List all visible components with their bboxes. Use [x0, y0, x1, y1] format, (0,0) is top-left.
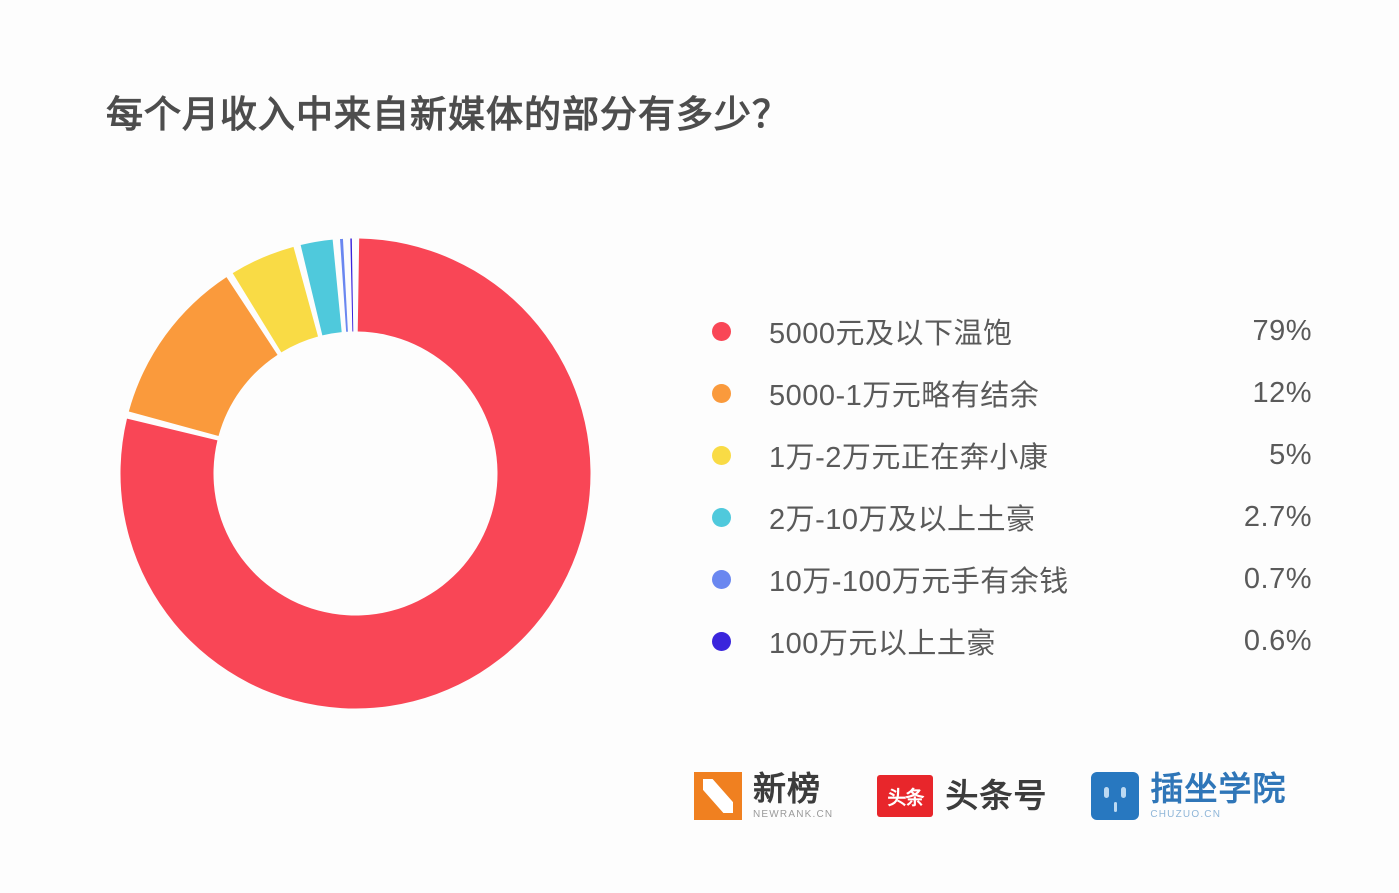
legend-value-5: 0.6% — [1192, 625, 1312, 658]
toutiao-badge-icon: 头条 — [877, 775, 933, 817]
legend-label-4: 10万-100万元手有余钱 — [769, 558, 1192, 600]
legend-value-3: 2.7% — [1192, 501, 1312, 534]
chuzuo-logo-text: 插坐学院 CHUZUO.CN — [1150, 772, 1286, 820]
newrank-logo-domain: NEWRANK.CN — [753, 809, 833, 820]
legend-item[interactable]: 1万-2万元正在奔小康 5% — [712, 424, 1312, 486]
toutiaohao-logo-text: 头条号 — [945, 779, 1047, 814]
legend-color-swatch-3 — [712, 508, 731, 527]
legend-color-swatch-1 — [712, 384, 731, 403]
legend-value-2: 5% — [1192, 439, 1312, 472]
donut-chart — [118, 236, 593, 711]
chuzuo-eye-right — [1121, 787, 1126, 798]
legend-color-swatch-0 — [712, 322, 731, 341]
chuzuo-mouth — [1114, 802, 1117, 812]
page-title: 每个月收入中来自新媒体的部分有多少？ — [106, 84, 790, 138]
toutiaohao-logo-name: 头条号 — [945, 779, 1047, 814]
footer-logos: 新榜 NEWRANK.CN 头条 头条号 插坐学院 CHUZUO.CN — [694, 772, 1286, 820]
legend-item[interactable]: 5000元及以下温饱 79% — [712, 300, 1312, 362]
chart-legend: 5000元及以下温饱 79% 5000-1万元略有结余 12% 1万-2万元正在… — [712, 300, 1312, 672]
chuzuo-eye-left — [1104, 787, 1109, 798]
legend-label-5: 100万元以上土豪 — [769, 620, 1192, 662]
legend-label-0: 5000元及以下温饱 — [769, 310, 1192, 352]
legend-value-1: 12% — [1192, 377, 1312, 410]
legend-value-4: 0.7% — [1192, 563, 1312, 596]
legend-item[interactable]: 100万元以上土豪 0.6% — [712, 610, 1312, 672]
legend-label-2: 1万-2万元正在奔小康 — [769, 434, 1192, 476]
logo-newrank: 新榜 NEWRANK.CN — [694, 772, 833, 820]
legend-color-swatch-2 — [712, 446, 731, 465]
legend-color-swatch-5 — [712, 632, 731, 651]
legend-item[interactable]: 10万-100万元手有余钱 0.7% — [712, 548, 1312, 610]
donut-slices — [120, 239, 590, 709]
donut-chart-svg — [118, 236, 593, 711]
newrank-logo-name: 新榜 — [753, 772, 833, 807]
legend-item[interactable]: 2万-10万及以上土豪 2.7% — [712, 486, 1312, 548]
legend-color-swatch-4 — [712, 570, 731, 589]
donut-slice[interactable] — [350, 239, 353, 332]
chuzuo-logo-icon — [1091, 772, 1139, 820]
chuzuo-logo-name: 插坐学院 — [1150, 772, 1286, 807]
logo-toutiaohao: 头条 头条号 — [877, 775, 1047, 817]
logo-chuzuo: 插坐学院 CHUZUO.CN — [1091, 772, 1286, 820]
newrank-logo-icon — [694, 772, 742, 820]
donut-slice[interactable] — [340, 239, 348, 332]
newrank-logo-text: 新榜 NEWRANK.CN — [753, 772, 833, 820]
chuzuo-logo-domain: CHUZUO.CN — [1150, 809, 1286, 820]
legend-label-1: 5000-1万元略有结余 — [769, 372, 1192, 414]
legend-value-0: 79% — [1192, 315, 1312, 348]
legend-item[interactable]: 5000-1万元略有结余 12% — [712, 362, 1312, 424]
legend-label-3: 2万-10万及以上土豪 — [769, 496, 1192, 538]
